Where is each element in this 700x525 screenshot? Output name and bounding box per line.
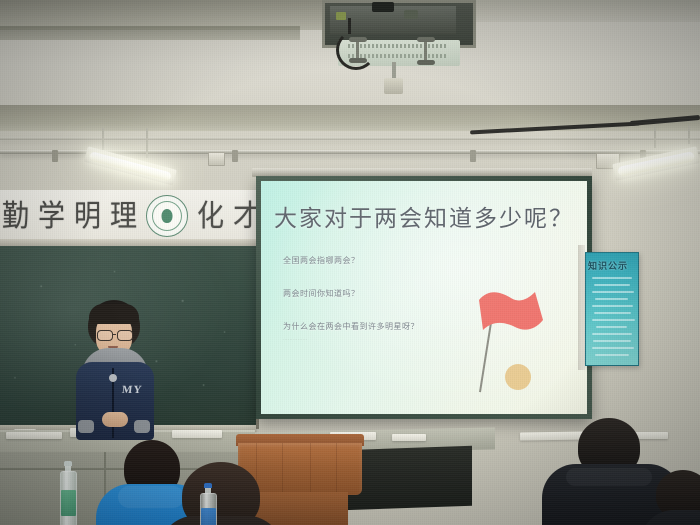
- rail-clip: [232, 150, 238, 162]
- water-bottle-left[interactable]: [60, 461, 75, 525]
- classroom-photo-scene: 勤 学 明 理 化 才 大家对于两会知道多少呢？ 全国两会指哪两会？ 两会时间你…: [0, 0, 700, 525]
- slide-content: 大家对于两会知道多少呢？ 全国两会指哪两会？ 两会时间你知道吗？ 为什么会在两会…: [261, 181, 587, 414]
- presenter-cuff: [134, 420, 150, 433]
- wall-rail-upper: [0, 137, 700, 140]
- banner-char: 理: [110, 201, 137, 231]
- presenter-glasses: [97, 330, 131, 339]
- desk-paper[interactable]: [6, 432, 62, 439]
- presenter-zip-pull: [109, 374, 117, 382]
- slide-bullet: 两会时间你知道吗？: [283, 288, 419, 299]
- wall-switch-box[interactable]: [208, 152, 225, 166]
- notice-poster: 知识公示: [585, 252, 639, 366]
- banner-char: 才: [233, 201, 258, 231]
- red-flag-graphic: [449, 288, 545, 392]
- banner-char: 学: [38, 201, 65, 231]
- flag-cloth-icon: [477, 290, 549, 336]
- tan-circle-graphic: [505, 364, 531, 390]
- hoodie-logo: MY: [121, 384, 143, 396]
- desk-paper[interactable]: [392, 434, 426, 441]
- ceiling-beam-left-shadow: [0, 26, 300, 40]
- student-front-center: [160, 462, 280, 525]
- presenter-fringe: [89, 304, 139, 324]
- presenter-cuff: [78, 420, 94, 433]
- student-far-right: [650, 470, 700, 525]
- presenter-speaker: MY: [62, 300, 167, 440]
- desk-paper[interactable]: [172, 430, 222, 438]
- rail-clip: [470, 150, 476, 162]
- banner-char: 勤: [2, 201, 29, 231]
- projection-screen: 大家对于两会知道多少呢？ 全国两会指哪两会？ 两会时间你知道吗？ 为什么会在两会…: [256, 176, 592, 419]
- poster-header: 知识公示: [588, 259, 628, 272]
- rail-clip: [52, 150, 58, 162]
- slide-title: 大家对于两会知道多少呢？: [261, 199, 587, 233]
- slide-bullet: 全国两会指哪两会？: [283, 255, 419, 266]
- slide-bullet: 为什么会在两会中看到许多明星呀？: [283, 321, 419, 332]
- wall-banner: 勤 学 明 理 化 才: [0, 190, 258, 242]
- slide-footnote: ···············: [283, 337, 307, 342]
- banner-char: 化: [197, 201, 224, 231]
- poster-frame: [578, 245, 585, 370]
- banner-char: 明: [74, 201, 101, 231]
- school-emblem: [146, 195, 188, 237]
- water-bottle-center[interactable]: [200, 483, 215, 525]
- presenter-hands: [102, 412, 128, 427]
